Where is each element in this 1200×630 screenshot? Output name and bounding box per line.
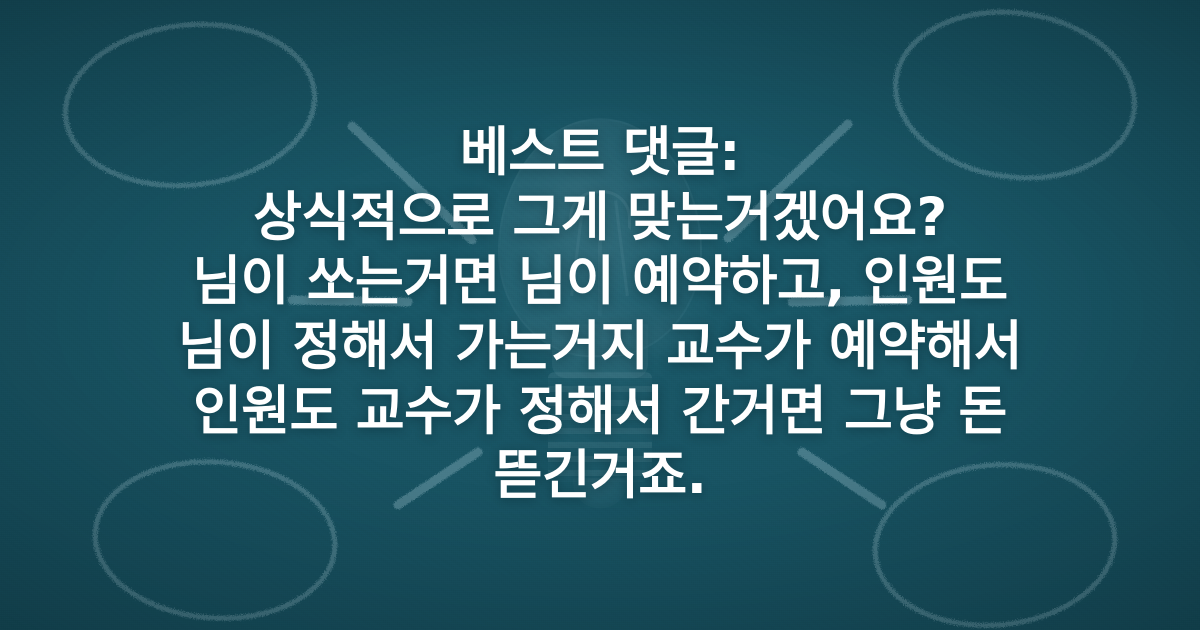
share-card: 베스트 댓글: 상식적으로 그게 맞는거겠어요? 님이 쏘는거면 님이 예약하고… — [0, 0, 1200, 630]
headline-block: 베스트 댓글: 상식적으로 그게 맞는거겠어요? 님이 쏘는거면 님이 예약하고… — [0, 0, 1200, 630]
page-title: 베스트 댓글: 상식적으로 그게 맞는거겠어요? 님이 쏘는거면 님이 예약하고… — [178, 121, 1022, 509]
